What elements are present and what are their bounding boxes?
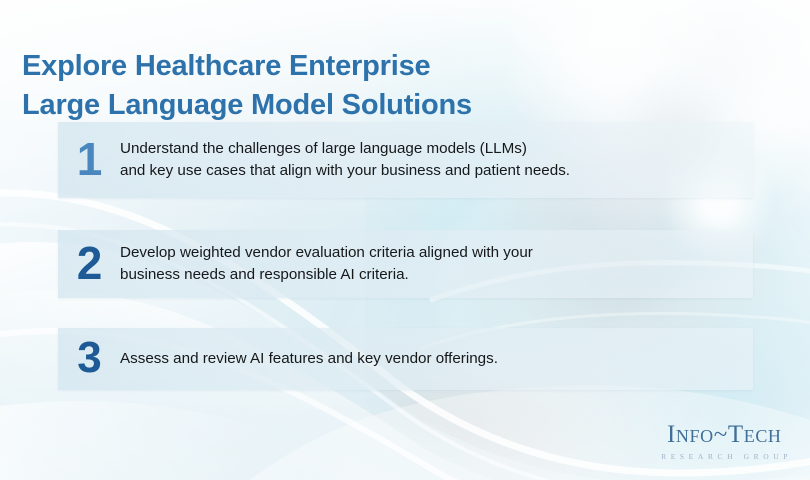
step-item-2: 2 Develop weighted vendor evaluation cri… — [58, 230, 753, 298]
page-title-line-2: Large Language Model Solutions — [22, 86, 722, 124]
step-number-1: 1 — [58, 136, 120, 184]
logo-wordmark: Info~Tech — [657, 422, 792, 447]
steps-list: 1 Understand the challenges of large lan… — [58, 122, 753, 390]
page-title: Explore Healthcare Enterprise Large Lang… — [22, 47, 722, 124]
slide-content: Explore Healthcare Enterprise Large Lang… — [0, 0, 810, 480]
step-text-1-line-1: Understand the challenges of large langu… — [120, 138, 739, 160]
step-text-3-line-1: Assess and review AI features and key ve… — [120, 348, 739, 370]
step-item-1: 1 Understand the challenges of large lan… — [58, 122, 753, 198]
step-number-2: 2 — [58, 240, 120, 288]
slide-canvas: Explore Healthcare Enterprise Large Lang… — [0, 0, 810, 480]
step-text-2-line-2: business needs and responsible AI criter… — [120, 264, 739, 286]
step-text-2: Develop weighted vendor evaluation crite… — [120, 242, 753, 285]
step-text-1: Understand the challenges of large langu… — [120, 138, 753, 181]
step-text-1-line-2: and key use cases that align with your b… — [120, 160, 739, 182]
step-text-2-line-1: Develop weighted vendor evaluation crite… — [120, 242, 739, 264]
logo-tagline: RESEARCH GROUP — [657, 453, 792, 461]
step-item-3: 3 Assess and review AI features and key … — [58, 328, 753, 390]
info-tech-logo: Info~Tech RESEARCH GROUP — [657, 422, 792, 461]
page-title-line-1: Explore Healthcare Enterprise — [22, 47, 722, 85]
step-number-3: 3 — [58, 336, 120, 382]
step-text-3: Assess and review AI features and key ve… — [120, 348, 753, 370]
